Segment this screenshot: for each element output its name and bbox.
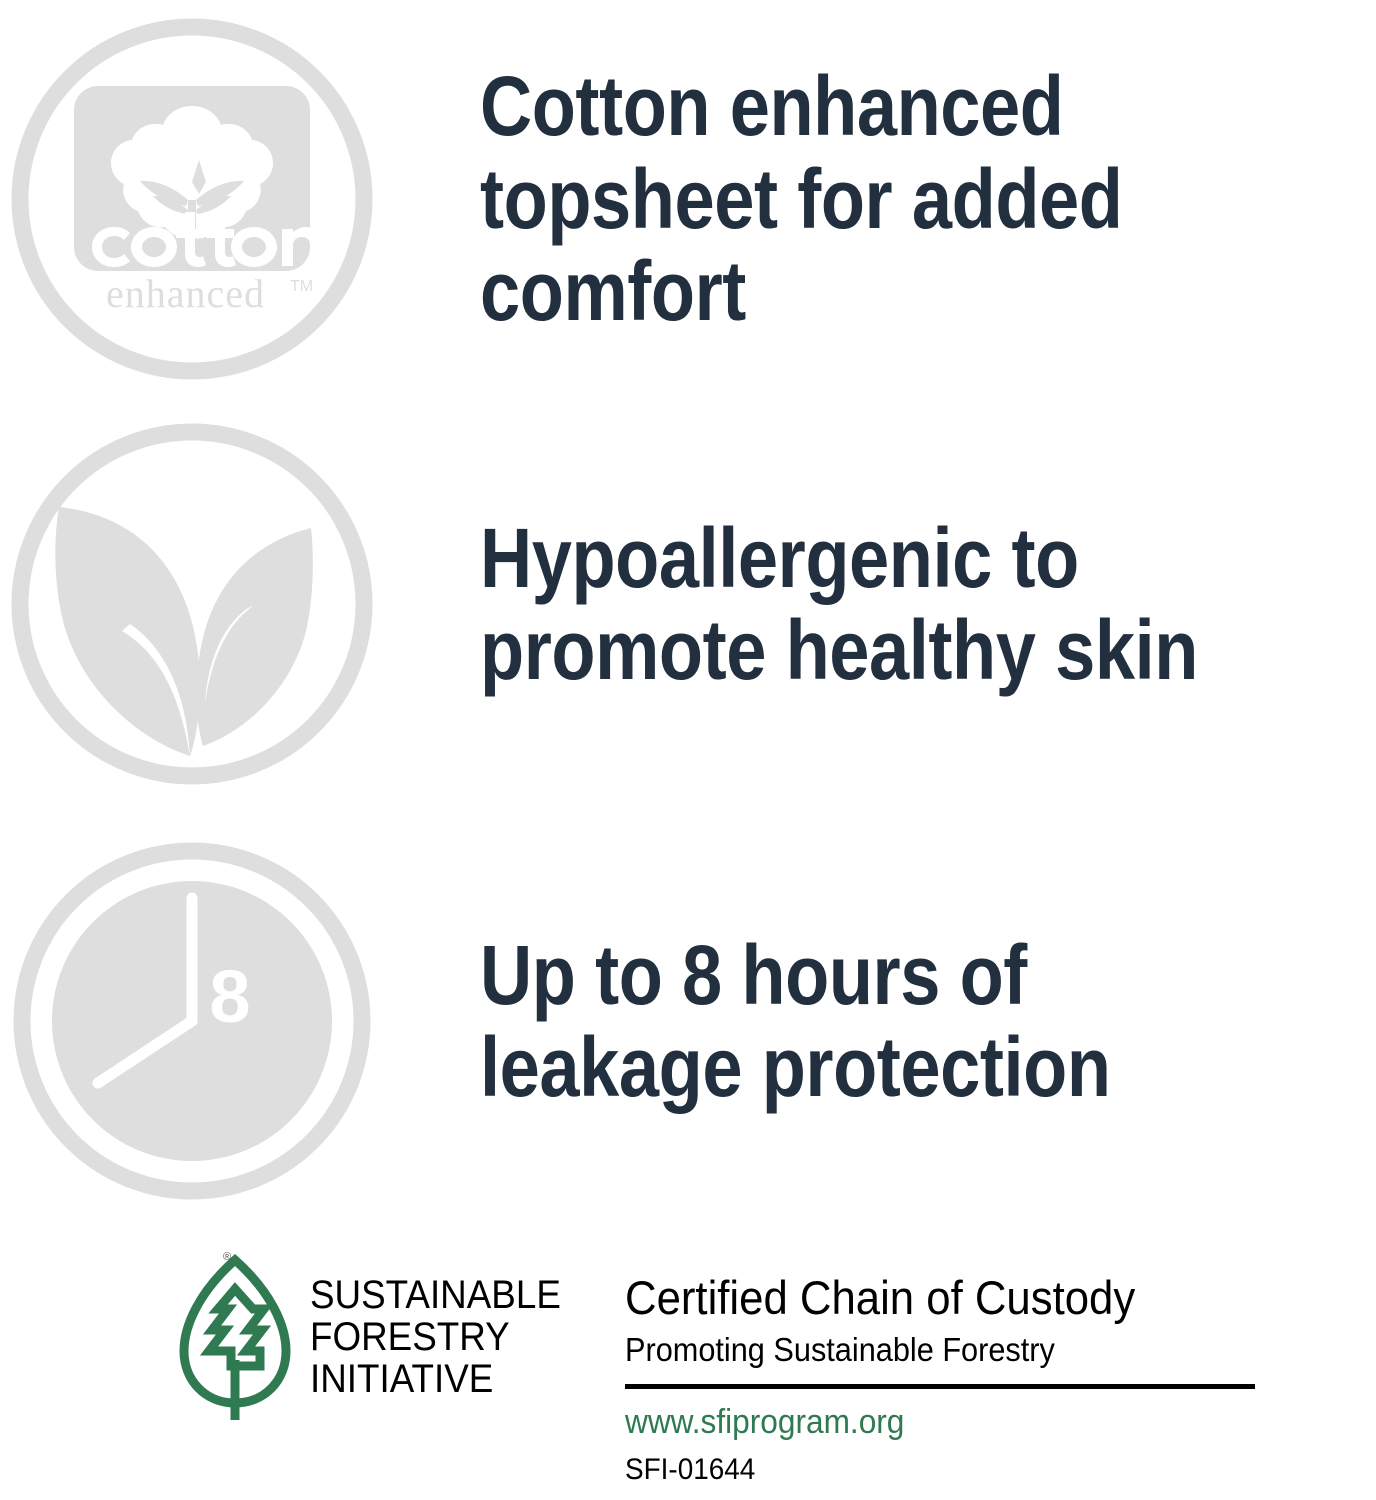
- certification-title: Certified Chain of Custody: [625, 1274, 1220, 1321]
- feature-text-hours: Up to 8 hours of leakage protection: [480, 929, 1251, 1114]
- cotton-trademark-label: TM: [290, 278, 313, 295]
- feature-icon-slot: [0, 418, 400, 790]
- sfi-certification-block: ® SUSTAINABLE FORESTRY INITIATIVE Certif…: [0, 1238, 1376, 1500]
- sfi-wordmark-label: SUSTAINABLE FORESTRY INITIATIVE: [310, 1274, 561, 1400]
- sfi-certification-text-group: Certified Chain of Custody Promoting Sus…: [625, 1274, 1265, 1485]
- clock-numeral-8: 8: [209, 955, 250, 1038]
- leaves-icon: [2, 418, 382, 790]
- feature-icon-slot: 8: [0, 838, 400, 1204]
- clock-icon: 8: [2, 838, 382, 1204]
- feature-text-cotton: Cotton enhanced topsheet for added comfo…: [480, 60, 1251, 337]
- cotton-enhanced-label: enhanced: [106, 271, 265, 316]
- feature-icon-slot: TM enhanced: [0, 14, 400, 384]
- feature-row-hypoallergenic: Hypoallergenic to promote healthy skin: [0, 418, 1376, 790]
- divider-rule: [625, 1384, 1255, 1389]
- sfi-logo-group: ® SUSTAINABLE FORESTRY INITIATIVE: [176, 1248, 583, 1426]
- sfi-program-url[interactable]: www.sfiprogram.org: [625, 1405, 1220, 1439]
- sfi-leaf-tree-icon: ®: [176, 1248, 294, 1426]
- certification-subtitle: Promoting Sustainable Forestry: [625, 1333, 1220, 1366]
- sfi-certificate-code: SFI-01644: [625, 1455, 1220, 1485]
- cotton-enhanced-badge-icon: TM enhanced: [2, 14, 382, 384]
- feature-row-cotton: TM enhanced Cotton enhanced topsheet for…: [0, 14, 1376, 384]
- feature-row-hours: 8 Up to 8 hours of leakage protection: [0, 838, 1376, 1204]
- registered-mark: ®: [223, 1251, 231, 1263]
- feature-text-hypoallergenic: Hypoallergenic to promote healthy skin: [480, 512, 1251, 697]
